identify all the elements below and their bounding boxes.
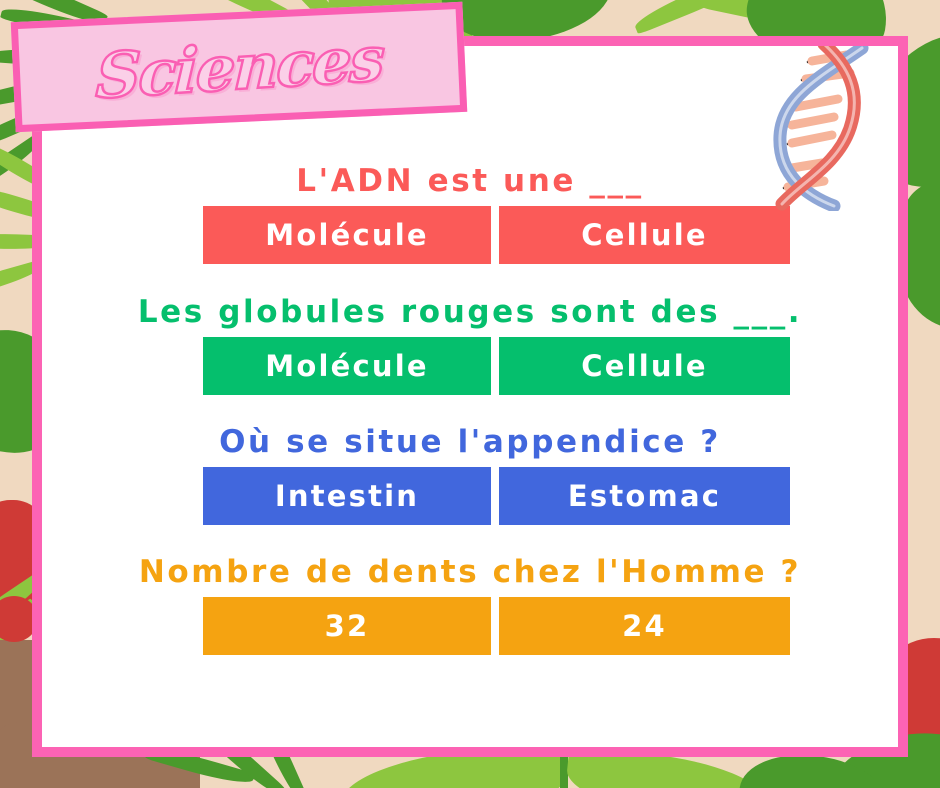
title-banner: Sciences [11, 2, 468, 132]
question-text-1: L'ADN est une ___ [42, 164, 898, 198]
page-title: Sciences [94, 21, 384, 112]
answer-row-1: Molécule Cellule [42, 206, 898, 264]
question-block-4: Nombre de dents chez l'Homme ? 32 24 [42, 555, 898, 655]
question-text-3: Où se situe l'appendice ? [42, 425, 898, 459]
slide-canvas: L'ADN est une ___ Molécule Cellule Les g… [0, 0, 940, 788]
answer-row-3: Intestin Estomac [42, 467, 898, 525]
answer-button-4b[interactable]: 24 [499, 597, 790, 655]
quiz-list: L'ADN est une ___ Molécule Cellule Les g… [42, 46, 898, 747]
answer-button-4a[interactable]: 32 [203, 597, 491, 655]
answer-button-3a[interactable]: Intestin [203, 467, 491, 525]
card-frame: L'ADN est une ___ Molécule Cellule Les g… [32, 36, 908, 757]
question-block-3: Où se situe l'appendice ? Intestin Estom… [42, 425, 898, 525]
answer-button-2b[interactable]: Cellule [499, 337, 790, 395]
quiz-card: L'ADN est une ___ Molécule Cellule Les g… [42, 46, 898, 747]
answer-button-1a[interactable]: Molécule [203, 206, 491, 264]
question-block-1: L'ADN est une ___ Molécule Cellule [42, 164, 898, 264]
answer-button-1b[interactable]: Cellule [499, 206, 790, 264]
answer-row-4: 32 24 [42, 597, 898, 655]
answer-button-3b[interactable]: Estomac [499, 467, 790, 525]
question-text-2: Les globules rouges sont des ___. [42, 295, 898, 329]
question-text-4: Nombre de dents chez l'Homme ? [42, 555, 898, 589]
question-block-2: Les globules rouges sont des ___. Molécu… [42, 295, 898, 395]
answer-button-2a[interactable]: Molécule [203, 337, 491, 395]
answer-row-2: Molécule Cellule [42, 337, 898, 395]
